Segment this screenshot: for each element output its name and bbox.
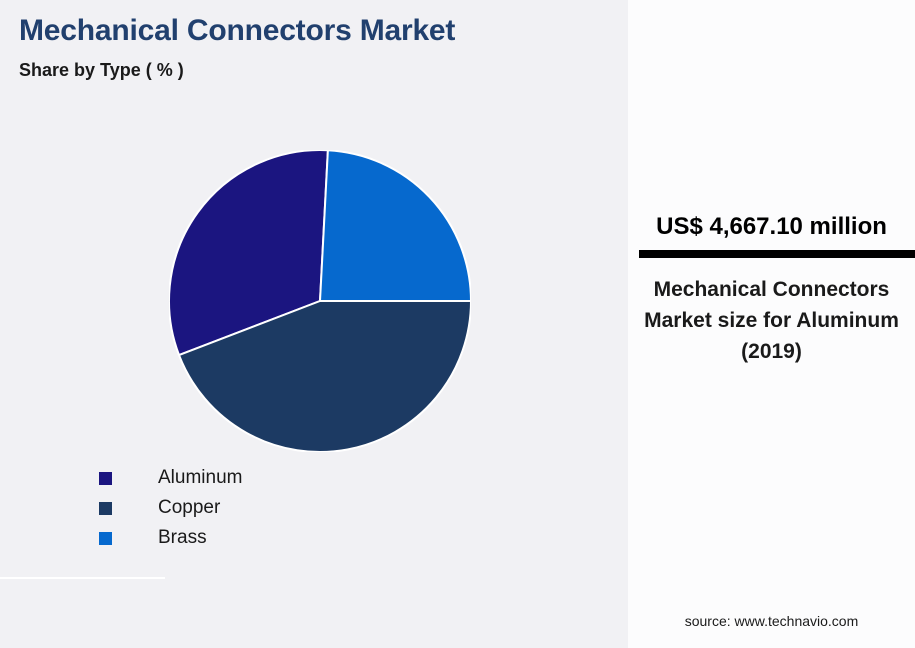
legend-label-copper: Copper [158,497,220,519]
legend-item-copper: Copper [99,493,419,523]
footer-divider [0,577,165,579]
legend-item-aluminum: Aluminum [99,463,419,493]
legend-label-aluminum: Aluminum [158,467,242,489]
pie-slice-brass [320,150,471,301]
legend-swatch-copper [99,502,112,515]
chart-left-panel: Mechanical Connectors Market Share by Ty… [0,0,628,648]
chart-canvas: Mechanical Connectors Market Share by Ty… [0,0,915,648]
kpi-value: US$ 4,667.10 million [628,213,915,241]
kpi-panel: US$ 4,667.10 million Mechanical Connecto… [628,0,915,648]
legend-item-brass: Brass [99,523,419,553]
chart-subtitle: Share by Type ( % ) [19,60,184,81]
source-note: source: www.technavio.com [628,613,915,629]
pie-chart [169,150,471,452]
legend-swatch-aluminum [99,472,112,485]
chart-legend: Aluminum Copper Brass [99,463,419,553]
page-title: Mechanical Connectors Market [19,14,455,48]
kpi-caption: Mechanical Connectors Market size for Al… [642,274,901,367]
kpi-underline [639,250,915,258]
pie-chart-svg [169,150,471,452]
legend-label-brass: Brass [158,527,207,549]
legend-swatch-brass [99,532,112,545]
